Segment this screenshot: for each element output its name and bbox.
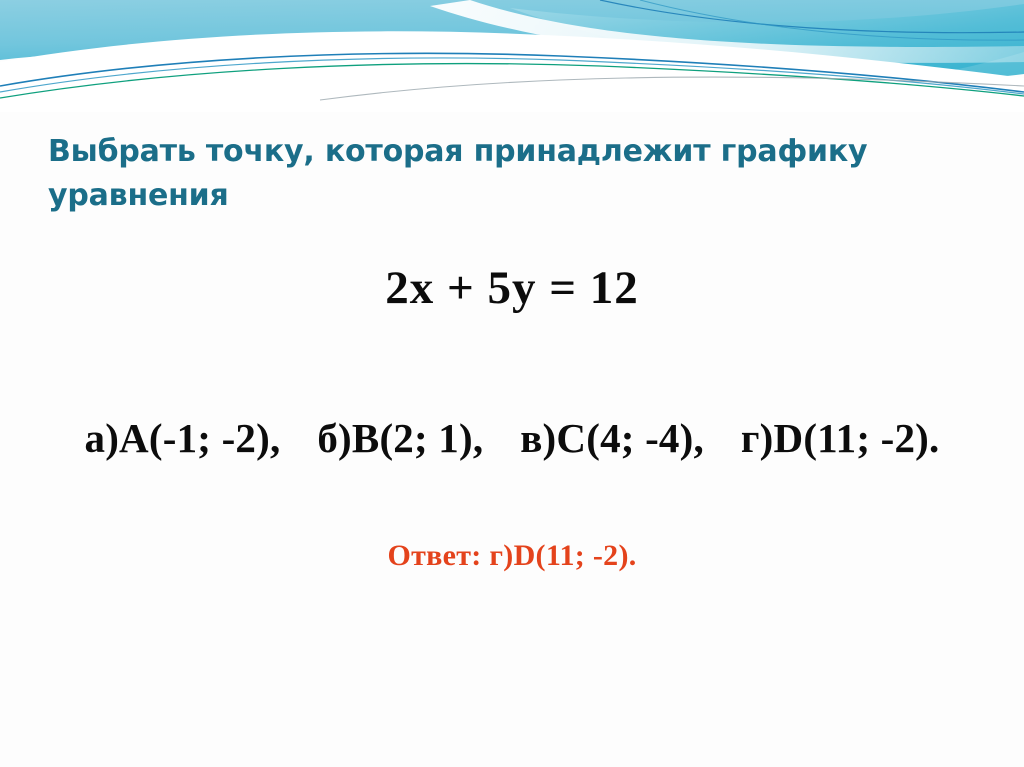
choice-option-b[interactable]: б)В(2; 1), bbox=[317, 415, 483, 461]
equation-text: 2x + 5y = 12 bbox=[385, 262, 639, 314]
choice-option-v[interactable]: в)С(4; -4), bbox=[520, 415, 704, 461]
equation-container: 2x + 5y = 12 bbox=[0, 260, 1024, 316]
slide-canvas: Выбрать точку, которая принадлежит графи… bbox=[0, 0, 1024, 767]
header-wave-decoration bbox=[0, 0, 1024, 112]
page-title: Выбрать точку, которая принадлежит графи… bbox=[48, 130, 978, 218]
answer-choices-container: а)А(-1; -2), б)В(2; 1), в)С(4; -4), г)D(… bbox=[0, 412, 1024, 464]
answer-container: Ответ: г)D(11; -2). bbox=[0, 537, 1024, 575]
title-line-1: Выбрать точку, которая принадлежит графи… bbox=[48, 130, 978, 174]
choice-option-a[interactable]: а)А(-1; -2), bbox=[85, 415, 281, 461]
title-line-2: уравнения bbox=[48, 174, 978, 218]
answer-text: Ответ: г)D(11; -2). bbox=[387, 539, 636, 572]
choice-option-g[interactable]: г)D(11; -2). bbox=[741, 415, 940, 461]
slide-content: Выбрать точку, которая принадлежит графи… bbox=[0, 112, 1024, 767]
answer-choices-line: а)А(-1; -2), б)В(2; 1), в)С(4; -4), г)D(… bbox=[85, 415, 940, 461]
wave-ribbon-graphic bbox=[0, 0, 1024, 112]
